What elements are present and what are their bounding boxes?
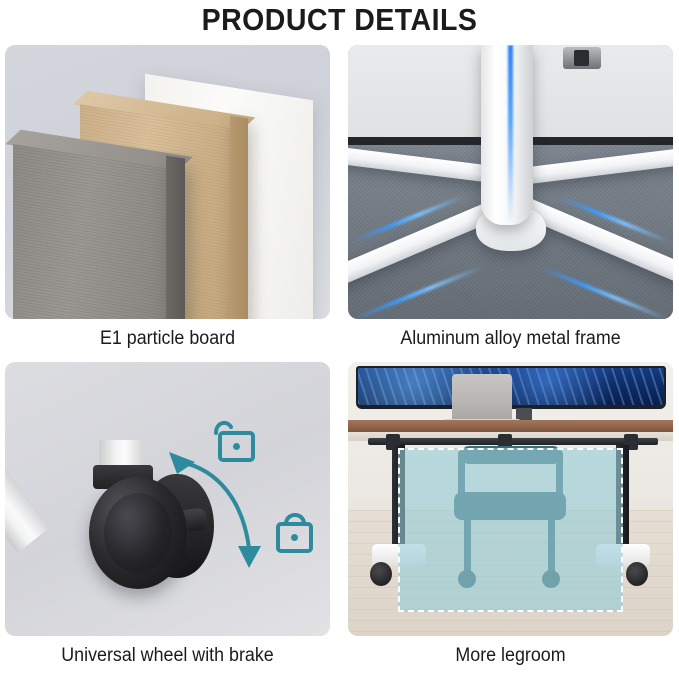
more-legroom-photo	[348, 362, 673, 636]
blue-highlight-post	[508, 45, 513, 221]
desk-top-surface	[348, 420, 673, 432]
monitor-foot	[563, 47, 601, 69]
caption-particle-board: E1 particle board	[15, 328, 321, 350]
detail-cell-metal-frame: Aluminum alloy metal frame	[348, 45, 673, 350]
detail-cell-particle-board: E1 particle board	[5, 45, 330, 350]
lock-closed-icon	[278, 515, 311, 551]
metal-frame-photo	[348, 45, 673, 319]
page-title: PRODUCT DETAILS	[27, 2, 652, 38]
lock-open-icon	[216, 423, 253, 460]
universal-wheel-photo	[5, 362, 330, 636]
frame-center-post	[481, 45, 533, 225]
board-sample-grey-side-edge	[166, 155, 185, 319]
curved-double-arrow-icon	[181, 462, 249, 548]
laptop	[452, 374, 512, 421]
arrow-head-unlock	[169, 452, 195, 474]
caption-metal-frame: Aluminum alloy metal frame	[358, 328, 664, 350]
caption-more-legroom: More legroom	[358, 645, 664, 667]
detail-cell-more-legroom: More legroom	[348, 362, 673, 667]
board-sample-tan-side-edge	[230, 116, 248, 319]
caption-universal-wheel: Universal wheel with brake	[15, 645, 321, 667]
desk-caster-left	[370, 562, 392, 586]
desk-caster-right	[626, 562, 648, 586]
particle-board-photo	[5, 45, 330, 319]
product-details-infographic: PRODUCT DETAILS E1 particle board	[0, 0, 679, 673]
board-sample-grey	[13, 144, 176, 319]
legroom-highlight-area	[398, 448, 623, 612]
desk-cross-beam	[368, 438, 658, 445]
lock-toggle-diagram	[5, 362, 330, 636]
arrow-head-lock	[238, 546, 261, 568]
details-grid: E1 particle board Aluminum al	[5, 45, 674, 670]
detail-cell-universal-wheel: Universal wheel with brake	[5, 362, 330, 667]
